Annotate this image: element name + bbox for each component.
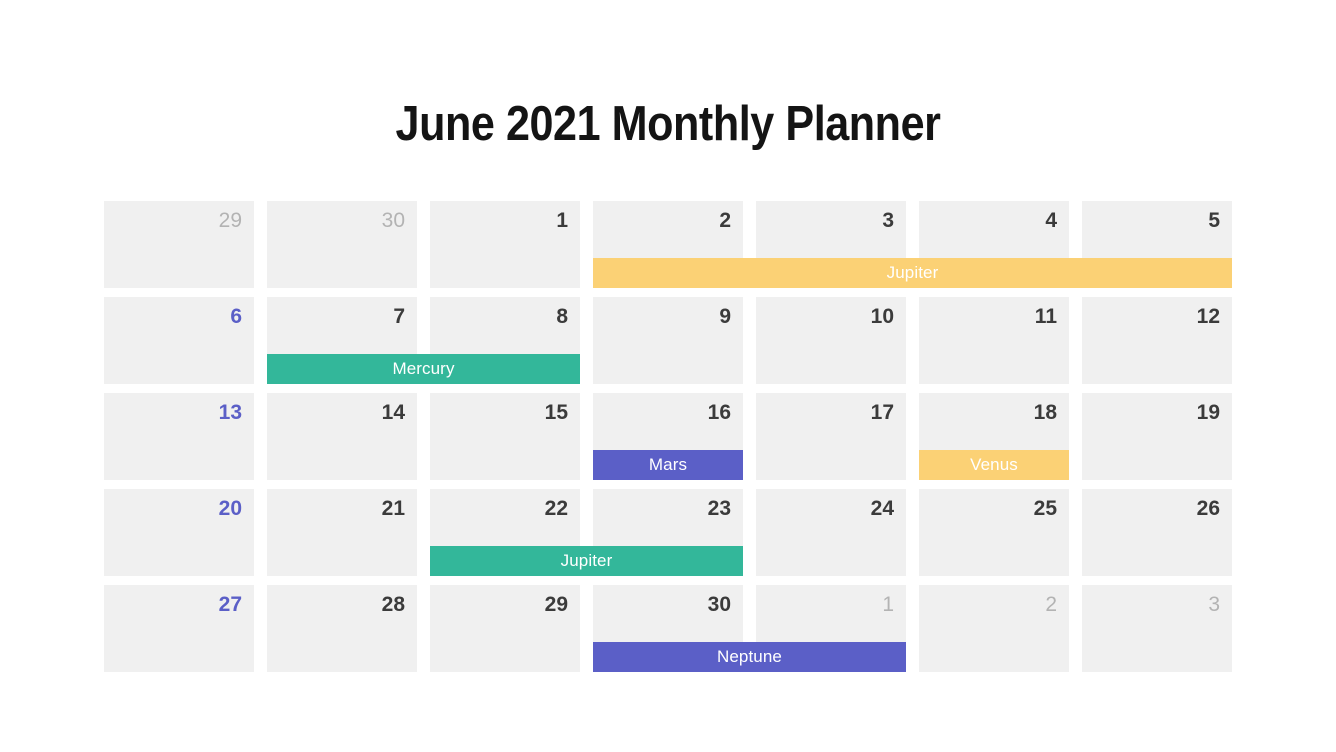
day-cell[interactable]: 24 [756, 489, 906, 576]
day-cell[interactable]: 27 [104, 585, 254, 672]
day-number: 8 [556, 306, 568, 327]
day-number: 18 [1034, 402, 1057, 423]
day-cell[interactable]: 12 [1082, 297, 1232, 384]
week-row: 13141516171819MarsVenus [104, 393, 1232, 480]
day-cell[interactable]: 29 [430, 585, 580, 672]
event-bar[interactable]: Venus [919, 450, 1069, 480]
day-number: 25 [1034, 498, 1057, 519]
day-number: 23 [708, 498, 731, 519]
day-number: 30 [382, 210, 405, 231]
day-cell[interactable]: 10 [756, 297, 906, 384]
day-number: 12 [1197, 306, 1220, 327]
day-number: 28 [382, 594, 405, 615]
day-cell[interactable]: 14 [267, 393, 417, 480]
day-number: 9 [719, 306, 731, 327]
day-number: 19 [1197, 402, 1220, 423]
day-cell[interactable]: 21 [267, 489, 417, 576]
day-number: 15 [545, 402, 568, 423]
day-cell[interactable]: 20 [104, 489, 254, 576]
day-number: 22 [545, 498, 568, 519]
day-number: 4 [1045, 210, 1057, 231]
day-cell[interactable]: 2 [919, 585, 1069, 672]
day-number: 2 [719, 210, 731, 231]
day-number: 13 [219, 402, 242, 423]
day-cell[interactable]: 30 [267, 201, 417, 288]
event-bar[interactable]: Jupiter [593, 258, 1232, 288]
day-number: 1 [882, 594, 894, 615]
week-row: 27282930123Neptune [104, 585, 1232, 672]
day-number: 29 [219, 210, 242, 231]
calendar-grid: 293012345Jupiter6789101112Mercury1314151… [104, 201, 1232, 672]
day-cell[interactable]: 11 [919, 297, 1069, 384]
event-bar[interactable]: Neptune [593, 642, 906, 672]
day-number: 6 [230, 306, 242, 327]
day-number: 26 [1197, 498, 1220, 519]
day-number: 5 [1208, 210, 1220, 231]
day-number: 24 [871, 498, 894, 519]
day-cell[interactable]: 3 [1082, 585, 1232, 672]
monthly-planner: June 2021 Monthly Planner 293012345Jupit… [0, 0, 1336, 752]
page-title: June 2021 Monthly Planner [80, 96, 1256, 152]
day-number: 3 [1208, 594, 1220, 615]
day-number: 27 [219, 594, 242, 615]
week-row: 6789101112Mercury [104, 297, 1232, 384]
day-number: 14 [382, 402, 405, 423]
day-cell[interactable]: 26 [1082, 489, 1232, 576]
day-number: 20 [219, 498, 242, 519]
day-cell[interactable]: 28 [267, 585, 417, 672]
day-number: 30 [708, 594, 731, 615]
day-number: 11 [1035, 306, 1057, 327]
day-number: 21 [382, 498, 405, 519]
day-number: 7 [393, 306, 405, 327]
day-number: 17 [871, 402, 894, 423]
day-cell[interactable]: 29 [104, 201, 254, 288]
week-row: 293012345Jupiter [104, 201, 1232, 288]
day-cell[interactable]: 25 [919, 489, 1069, 576]
event-bar[interactable]: Mercury [267, 354, 580, 384]
day-cell[interactable]: 9 [593, 297, 743, 384]
day-number: 16 [708, 402, 731, 423]
event-bar[interactable]: Jupiter [430, 546, 743, 576]
day-cell[interactable]: 1 [430, 201, 580, 288]
day-number: 2 [1045, 594, 1057, 615]
day-number: 1 [556, 210, 568, 231]
week-row: 20212223242526Jupiter [104, 489, 1232, 576]
event-bar[interactable]: Mars [593, 450, 743, 480]
day-number: 29 [545, 594, 568, 615]
day-cell[interactable]: 15 [430, 393, 580, 480]
day-number: 10 [871, 306, 894, 327]
day-cell[interactable]: 19 [1082, 393, 1232, 480]
day-cell[interactable]: 6 [104, 297, 254, 384]
day-number: 3 [882, 210, 894, 231]
day-cell[interactable]: 17 [756, 393, 906, 480]
day-cell[interactable]: 13 [104, 393, 254, 480]
